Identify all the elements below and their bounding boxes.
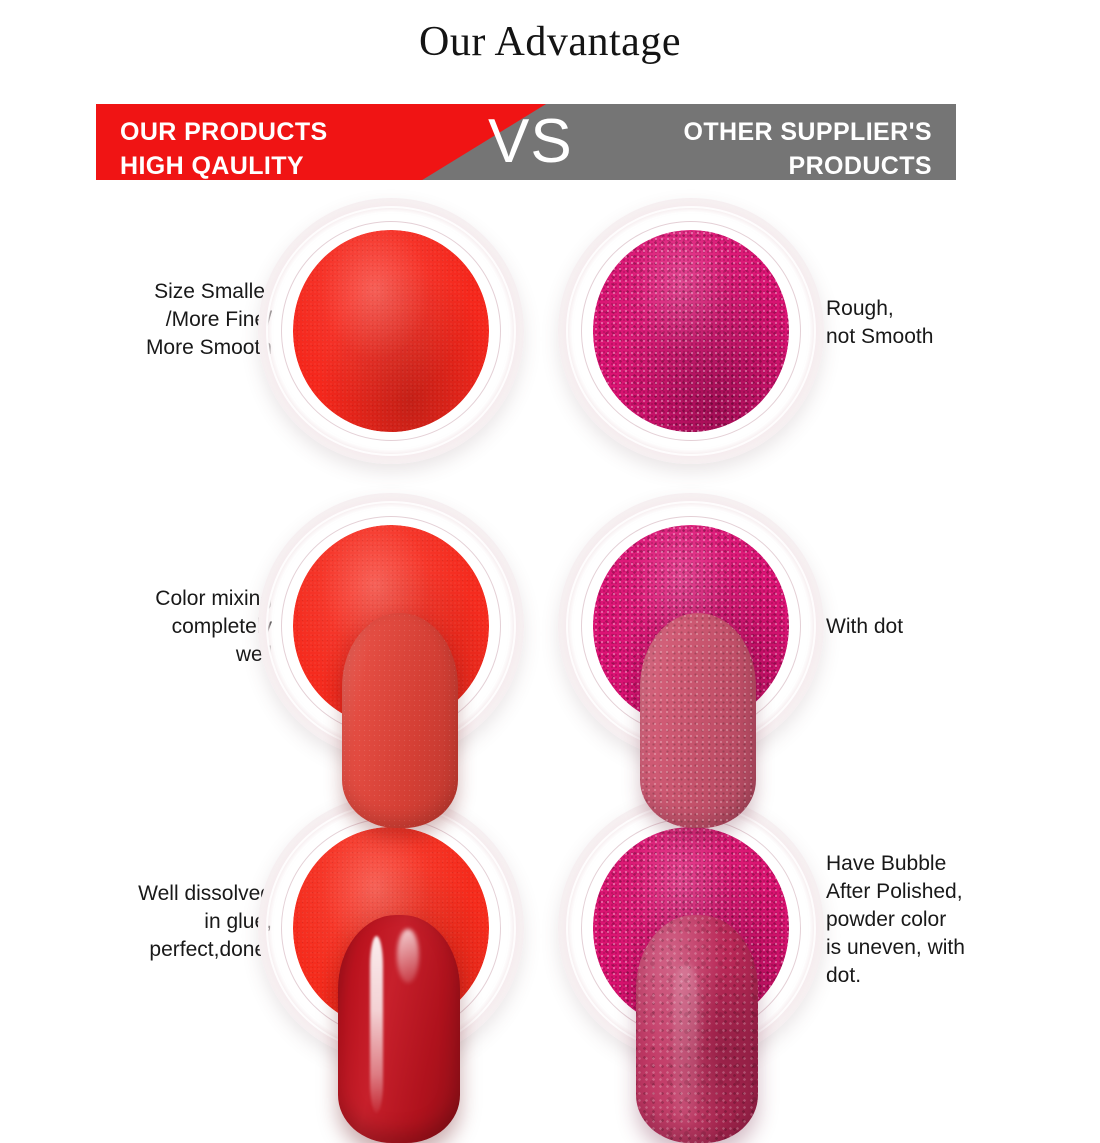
jar-our-product-row-1: [258, 198, 524, 464]
powder-grain-texture: [293, 230, 490, 432]
nail-dull-band: [673, 965, 699, 1125]
caption-right-row-1: Rough,not Smooth: [826, 295, 1026, 351]
comparison-row-1: Size Smaller/More Fine/More Smooth Rough…: [0, 190, 1100, 490]
caption-left-row-1: Size Smaller/More Fine/More Smooth: [72, 278, 272, 362]
nail-gloss-highlight: [370, 936, 383, 1114]
banner-left-line-2: HIGH QAULITY: [120, 150, 328, 181]
banner-other-suppliers-text: OTHER SUPPLIER'S PRODUCTS: [684, 116, 933, 180]
banner-left-line-1: OUR PRODUCTS: [120, 116, 328, 150]
caption-right-row-2: With dot: [826, 613, 1026, 641]
caption-left-row-3: Well dissolvedin glue,perfect,done.: [62, 880, 272, 964]
banner-vs-label: VS: [488, 106, 573, 178]
nail-gloss-secondary-highlight: [397, 929, 419, 983]
comparison-row-2: Color mixingcompletelywell With dot: [0, 485, 1100, 785]
banner-our-products-text: OUR PRODUCTS HIGH QAULITY: [120, 116, 328, 180]
nail-tip-our-product-row-2: [342, 613, 458, 828]
banner-right-line-2: PRODUCTS: [684, 150, 933, 181]
page-title: Our Advantage: [0, 18, 1100, 66]
banner-right-line-1: OTHER SUPPLIER'S: [684, 116, 933, 150]
nail-tip-other-supplier-row-2: [640, 613, 756, 828]
caption-left-row-2: Color mixingcompletelywell: [72, 585, 272, 669]
jar-other-supplier-row-1: [558, 198, 824, 464]
powder-grain-texture: [593, 230, 790, 432]
vs-comparison-banner: OUR PRODUCTS HIGH QAULITY VS OTHER SUPPL…: [96, 104, 956, 180]
comparison-row-3: Well dissolvedin glue,perfect,done. Have…: [0, 785, 1100, 1085]
powder-surface-pink: [593, 230, 790, 432]
nail-tip-other-supplier-row-3: [636, 915, 758, 1143]
nail-tip-our-product-row-3: [338, 915, 460, 1143]
caption-right-row-3: Have BubbleAfter Polished,powder coloris…: [826, 850, 1001, 990]
powder-surface-red: [293, 230, 490, 432]
